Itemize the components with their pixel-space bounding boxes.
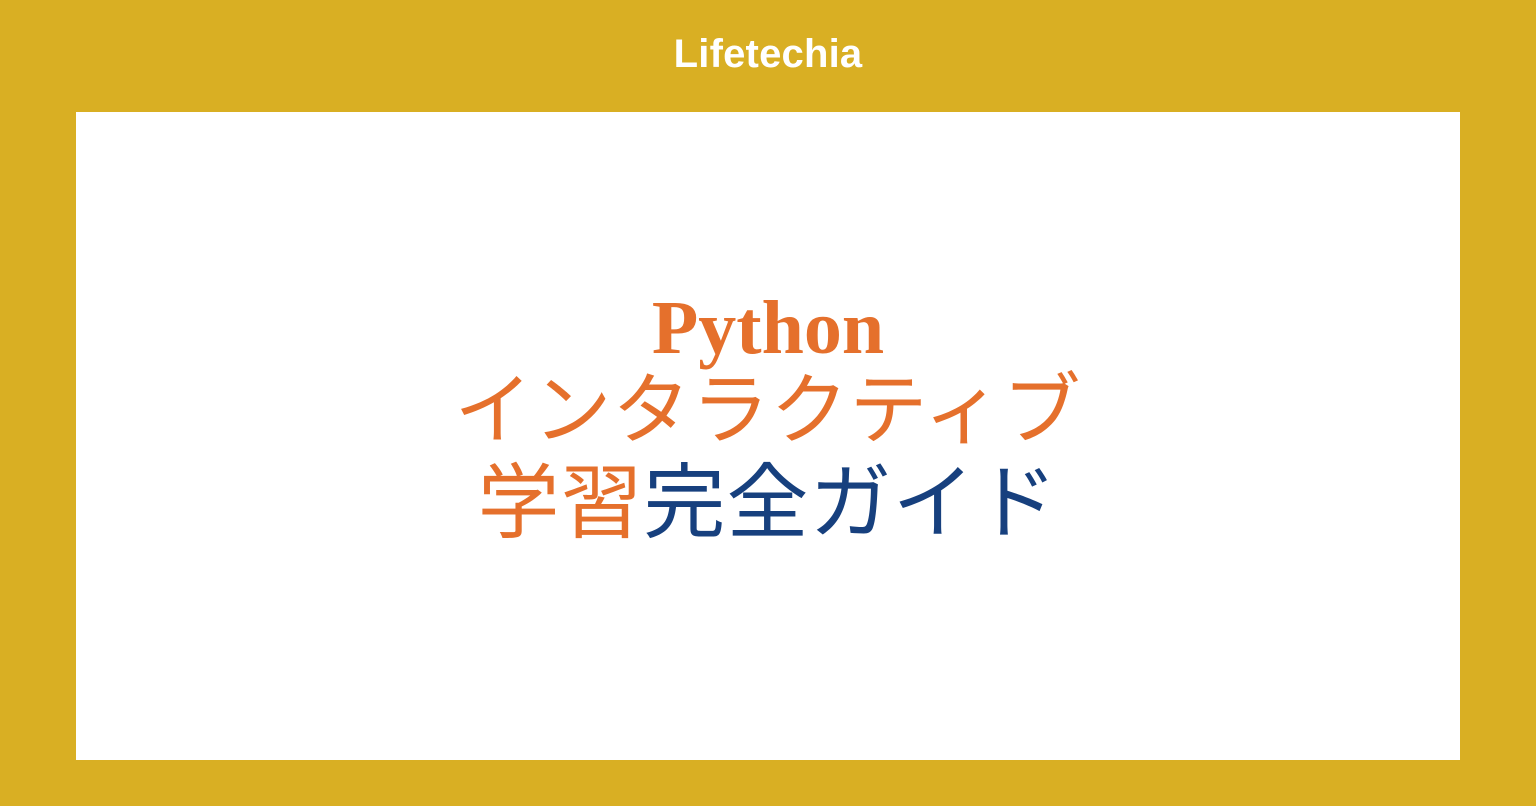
- eyecatch-title-block: Python インタラクティブ 学習完全ガイド: [76, 290, 1460, 549]
- eyecatch-segment-kanzen-guide: 完全ガイド: [644, 456, 1059, 551]
- page-root: Lifetechia Python インタラクティブ 学習完全ガイド: [0, 0, 1536, 806]
- eyecatch-line-interactive: インタラクティブ: [76, 368, 1460, 455]
- content-card: Python インタラクティブ 学習完全ガイド: [76, 112, 1460, 760]
- site-header: Lifetechia: [0, 0, 1536, 112]
- eyecatch-segment-gakushu: 学習: [477, 456, 643, 551]
- site-title[interactable]: Lifetechia: [674, 34, 863, 74]
- eyecatch-line-guide: 学習完全ガイド: [76, 458, 1460, 550]
- eyecatch-line-python: Python: [76, 290, 1460, 366]
